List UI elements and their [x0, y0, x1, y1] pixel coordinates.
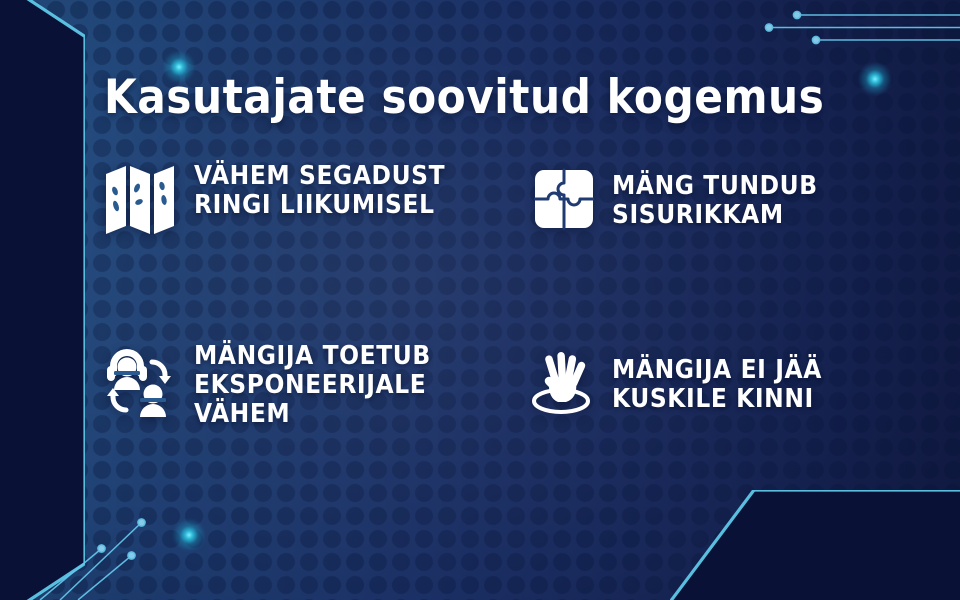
- slide-content: Kasutajate soovitud kogemus: [0, 0, 960, 600]
- hand-sinking-icon: [528, 352, 594, 416]
- feature-item-less-reliance: MÄNGIJA TOETUB EKSPONEERIJALE VÄHEM: [104, 340, 514, 429]
- two-people-exchange-icon: [104, 340, 176, 418]
- puzzle-pieces-icon: [534, 168, 594, 230]
- feature-label: MÄNGIJA TOETUB EKSPONEERIJALE VÄHEM: [194, 340, 514, 429]
- feature-label: MÄNG TUNDUB SISURIKKAM: [612, 168, 914, 230]
- feature-item-no-getting-stuck: MÄNGIJA EI JÄÄ KUSKILE KINNI: [528, 352, 918, 416]
- feature-item-less-confusion: VÄHEM SEGADUST RINGI LIIKUMISEL: [104, 160, 504, 238]
- page-title: Kasutajate soovitud kogemus: [104, 74, 824, 121]
- slide-canvas: Kasutajate soovitud kogemus: [0, 0, 960, 600]
- feature-grid: VÄHEM SEGADUST RINGI LIIKUMISEL MÄNG TUN…: [104, 160, 914, 460]
- feature-label: MÄNGIJA EI JÄÄ KUSKILE KINNI: [612, 352, 918, 414]
- folded-map-icon: [104, 160, 176, 238]
- feature-item-richer-content: MÄNG TUNDUB SISURIKKAM: [534, 168, 914, 230]
- feature-label: VÄHEM SEGADUST RINGI LIIKUMISEL: [194, 160, 504, 220]
